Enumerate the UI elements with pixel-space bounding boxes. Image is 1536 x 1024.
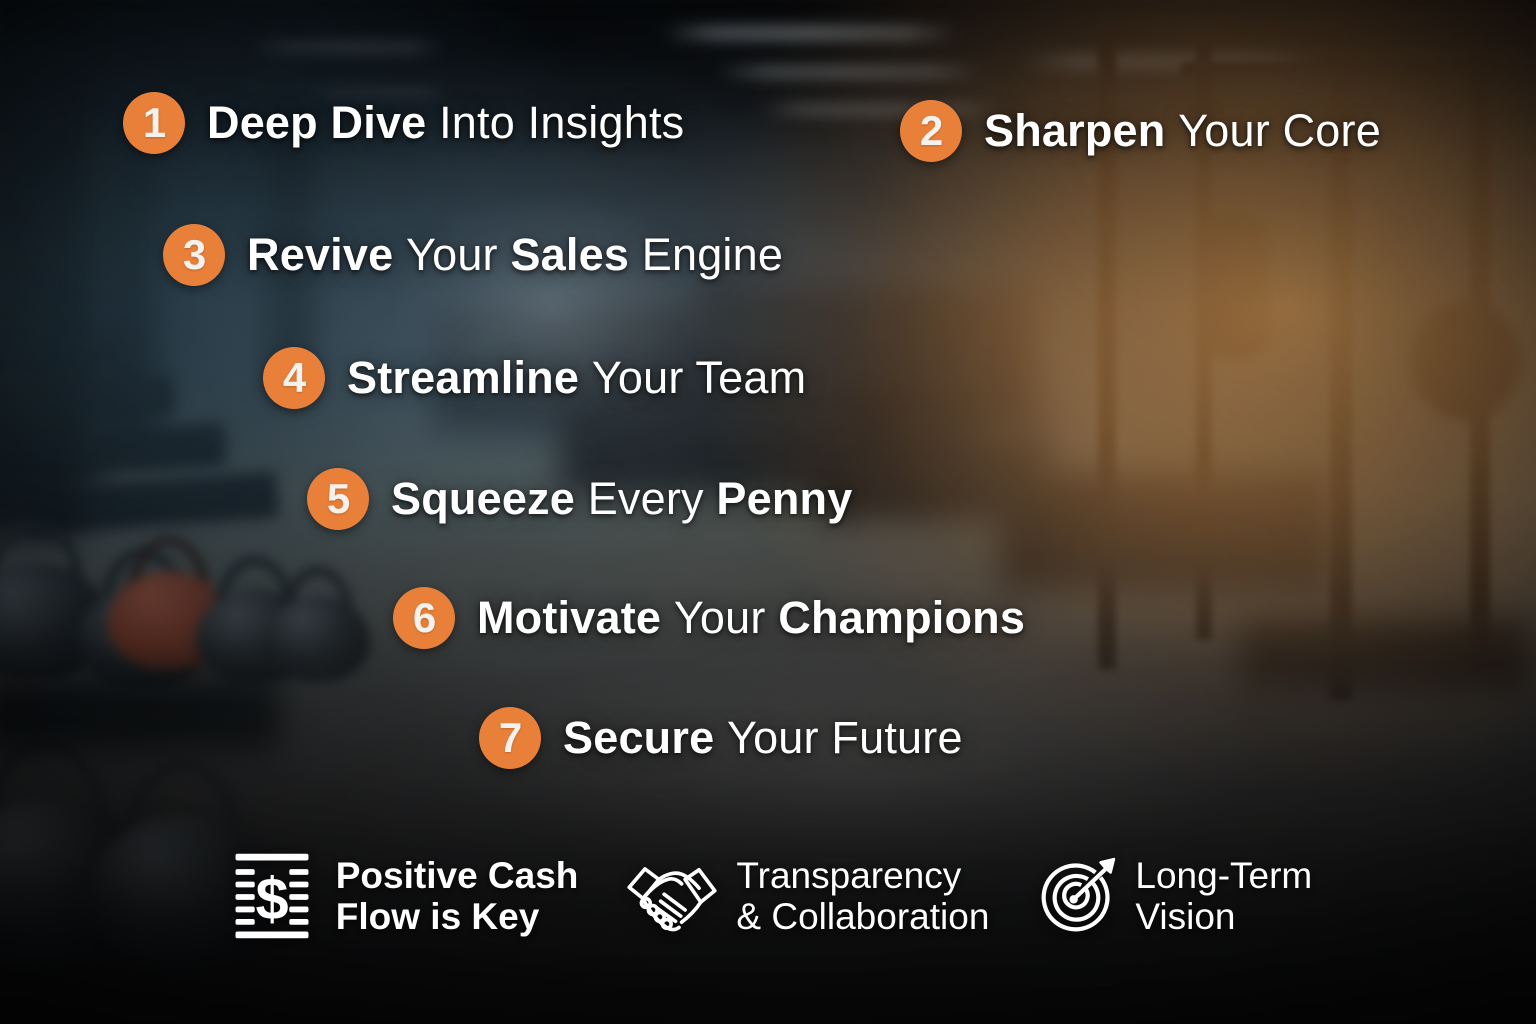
step-label-part: Your Team [592, 352, 806, 403]
step-label-part: Into Insights [439, 97, 684, 148]
svg-text:$: $ [255, 865, 288, 932]
step-label-part: Squeeze [391, 473, 588, 524]
step-number-badge: 7 [479, 707, 541, 769]
step-label-part: Sharpen [984, 105, 1178, 156]
handshake-icon-wrapper [624, 848, 720, 944]
step-label-part: Every [588, 473, 717, 524]
step-label-part: Champions [778, 592, 1025, 643]
step-number-badge: 6 [393, 587, 455, 649]
infographic-poster: 1Deep Dive Into Insights2Sharpen Your Co… [0, 0, 1536, 1024]
step-row: 2Sharpen Your Core [900, 100, 1381, 162]
step-label: Secure Your Future [563, 712, 963, 764]
benefit-label-line2: Vision [1135, 896, 1312, 937]
benefit-label-line1: Positive Cash [336, 855, 579, 896]
step-label-part: Deep Dive [207, 97, 439, 148]
target-arrow-icon-wrapper [1035, 854, 1119, 938]
poster-content: 1Deep Dive Into Insights2Sharpen Your Co… [0, 0, 1536, 1024]
step-label-part: Revive [247, 229, 406, 280]
step-label-part: Your [406, 229, 510, 280]
cash-flow-icon: $ [224, 848, 320, 944]
step-row: 3Revive Your Sales Engine [163, 224, 783, 286]
step-label: Motivate Your Champions [477, 592, 1025, 644]
benefits-bar: $ Positive CashFlow is Key Transparency& [0, 848, 1536, 944]
step-label: Revive Your Sales Engine [247, 229, 783, 281]
step-label: Sharpen Your Core [984, 105, 1381, 157]
benefit-label: Positive CashFlow is Key [336, 855, 579, 938]
step-number-badge: 2 [900, 100, 962, 162]
step-number-badge: 5 [307, 468, 369, 530]
handshake-icon [624, 848, 720, 944]
step-number-badge: 4 [263, 347, 325, 409]
benefit-item: $ Positive CashFlow is Key [224, 848, 579, 944]
step-number-badge: 3 [163, 224, 225, 286]
benefit-label-line1: Long-Term [1135, 855, 1312, 896]
step-label-part: Streamline [347, 352, 592, 403]
step-label-part: Your Core [1178, 105, 1381, 156]
benefit-item: Long-TermVision [1035, 854, 1312, 938]
step-label-part: Your Future [727, 712, 963, 763]
benefit-label: Long-TermVision [1135, 855, 1312, 938]
step-label-part: Penny [716, 473, 852, 524]
step-label-part: Secure [563, 712, 727, 763]
cash-flow-icon-wrapper: $ [224, 848, 320, 944]
benefit-label-line1: Transparency [736, 855, 989, 896]
benefit-item: Transparency& Collaboration [624, 848, 989, 944]
step-row: 6Motivate Your Champions [393, 587, 1025, 649]
benefit-label-line2: & Collaboration [736, 896, 989, 937]
benefit-label-line2: Flow is Key [336, 896, 579, 937]
step-label-part: Engine [642, 229, 783, 280]
step-row: 5Squeeze Every Penny [307, 468, 852, 530]
step-label-part: Motivate [477, 592, 674, 643]
step-label: Squeeze Every Penny [391, 473, 852, 525]
step-label: Deep Dive Into Insights [207, 97, 684, 149]
step-number-badge: 1 [123, 92, 185, 154]
step-label: Streamline Your Team [347, 352, 806, 404]
step-row: 7Secure Your Future [479, 707, 963, 769]
step-row: 4Streamline Your Team [263, 347, 806, 409]
benefit-label: Transparency& Collaboration [736, 855, 989, 938]
step-row: 1Deep Dive Into Insights [123, 92, 684, 154]
target-arrow-icon [1035, 854, 1119, 938]
step-label-part: Your [674, 592, 778, 643]
step-label-part: Sales [510, 229, 641, 280]
